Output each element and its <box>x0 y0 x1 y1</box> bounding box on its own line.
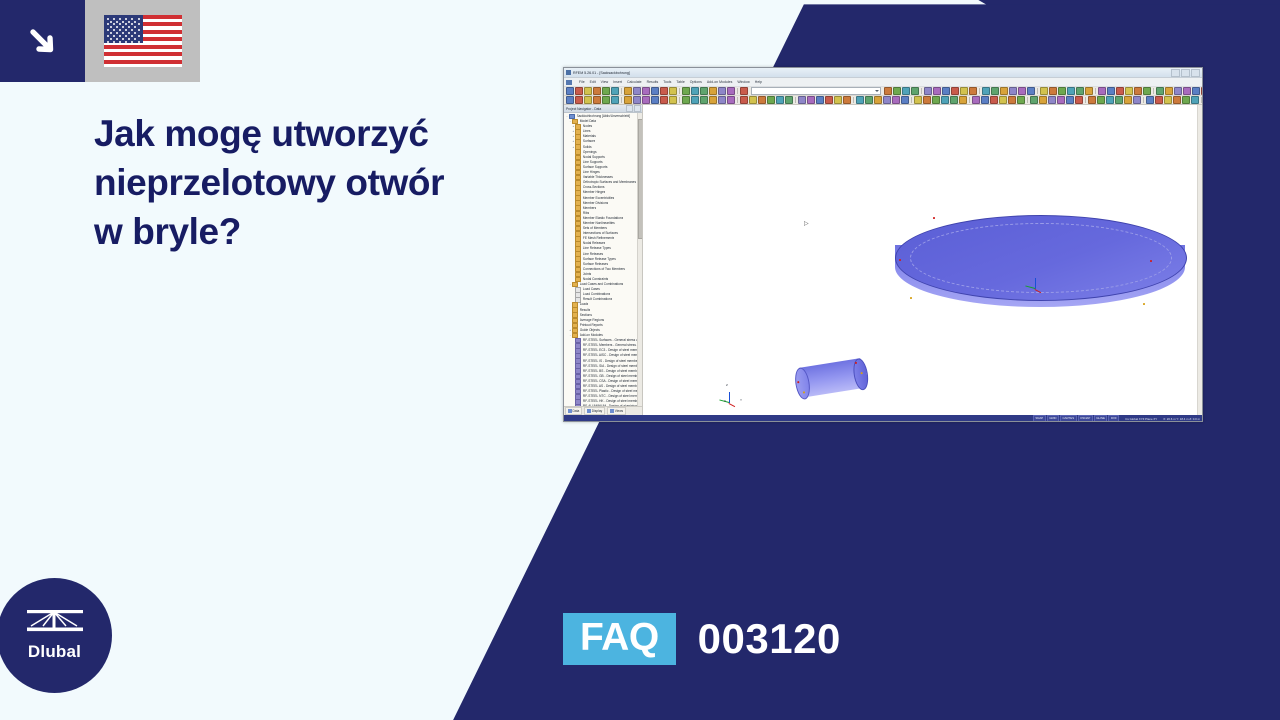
toolbar-icon-72[interactable] <box>1164 96 1172 104</box>
toolbar-icon-70[interactable] <box>1146 96 1154 104</box>
toolbar-icon-61[interactable] <box>1075 96 1083 104</box>
toolbar-icon-46[interactable] <box>950 96 958 104</box>
toolbar-separator <box>621 97 622 103</box>
axis-label-y: Y <box>740 398 742 402</box>
toolbar-icon-1[interactable] <box>575 87 583 95</box>
toolbar-icon-65[interactable] <box>1106 96 1114 104</box>
toolbar-separator <box>853 97 854 103</box>
toolbar-icon-51[interactable] <box>1116 87 1124 95</box>
toolbar-icon-54[interactable] <box>1143 87 1151 95</box>
status-info: Cs Global XYZ Plane XY <box>1125 417 1157 421</box>
toolbar-icon-35[interactable] <box>856 96 864 104</box>
toolbar-icon-33[interactable] <box>843 96 851 104</box>
header-badges <box>0 0 200 82</box>
menu-item-file[interactable]: File <box>579 80 585 84</box>
toolbar-icon-12[interactable] <box>669 96 677 104</box>
dlubal-wordmark: Dlubal <box>28 642 81 662</box>
toolbar-icon-26[interactable] <box>911 87 919 95</box>
axis-label-x: X <box>724 399 726 403</box>
minimize-button[interactable] <box>1171 69 1180 77</box>
toolbar-icon-59[interactable] <box>1057 96 1065 104</box>
toolbar-icon-2[interactable] <box>584 87 592 95</box>
flag-star <box>110 21 112 23</box>
model-origin-axes <box>1035 273 1049 289</box>
menu-item-table[interactable]: Table <box>676 80 684 84</box>
toolbar-separator <box>795 97 796 103</box>
toolbar-icon-12[interactable] <box>669 87 677 95</box>
toolbar-icon-61[interactable] <box>1201 87 1203 95</box>
toolbar-icon-0[interactable] <box>566 96 574 104</box>
toolbar-icon-49[interactable] <box>1098 87 1106 95</box>
toolbar-icon-75[interactable] <box>1191 96 1199 104</box>
toolbar-icon-47[interactable] <box>959 96 967 104</box>
solid-cylinder-object[interactable] <box>793 358 869 399</box>
page-title-line-2: nieprzelotowy otwór <box>94 159 534 208</box>
navigator-tab-display[interactable]: Display <box>584 407 605 415</box>
status-toggle-group[interactable]: SNAPGRIDCARTESOSNAPGLINEDXF <box>1033 415 1119 422</box>
toolbar-icon-4[interactable] <box>602 96 610 104</box>
toolbar-icon-36[interactable] <box>865 96 873 104</box>
toolbar-icon-18[interactable] <box>718 96 726 104</box>
toolbar-separator <box>1027 97 1028 103</box>
toolbar-icon-5[interactable] <box>611 96 619 104</box>
toolbar-separator <box>737 97 738 103</box>
status-coordinates: X: 20.6 m Y: 18.4 m Z: 0.0 m <box>1163 417 1200 421</box>
toolbar-icon-67[interactable] <box>1124 96 1132 104</box>
toolbar-icon-8[interactable] <box>633 87 641 95</box>
tree-item[interactable]: RF-ALUMINIUM - Design of aluminium b... <box>564 404 642 406</box>
axis-label-z: Z <box>726 383 728 387</box>
toolbar-icon-5[interactable] <box>611 87 619 95</box>
toolbar-icon-37[interactable] <box>1000 87 1008 95</box>
toolbar-icon-30[interactable] <box>816 96 824 104</box>
toolbar-icon-31[interactable] <box>951 87 959 95</box>
toolbar-icon-42[interactable] <box>914 96 922 104</box>
language-flag-us[interactable] <box>85 0 200 82</box>
toolbar-icon-52[interactable] <box>999 96 1007 104</box>
toolbar-icon-31[interactable] <box>825 96 833 104</box>
maximize-button[interactable] <box>1181 69 1190 77</box>
flag-star <box>113 35 115 37</box>
toolbar-icon-19[interactable] <box>727 87 735 95</box>
tree-item-label: RF-ALUMINIUM - Design of aluminium b... <box>583 404 642 406</box>
faq-badge: FAQ <box>563 613 676 665</box>
toolbar-separator <box>921 88 922 94</box>
flag-star <box>138 35 140 37</box>
toolbar-icon-15[interactable] <box>691 87 699 95</box>
mouse-cursor-icon: ▷ <box>804 220 809 227</box>
toolbar-icon-30[interactable] <box>942 87 950 95</box>
toolbar-icon-8[interactable] <box>633 96 641 104</box>
toolbar-icon-24[interactable] <box>767 96 775 104</box>
toolbar-icon-17[interactable] <box>709 96 717 104</box>
flag-star <box>107 41 109 43</box>
toolbar-icon-25[interactable] <box>902 87 910 95</box>
flag-star <box>116 32 118 34</box>
toolbar-separator <box>1153 88 1154 94</box>
close-button[interactable] <box>1191 69 1200 77</box>
toolbar-icon-51[interactable] <box>990 96 998 104</box>
toolbar-icon-58[interactable] <box>1174 87 1182 95</box>
page-title: Jak mogę utworzyć nieprzelotowy otwór w … <box>94 110 534 256</box>
toolbar-icon-60[interactable] <box>1066 96 1074 104</box>
navigator-tab-views[interactable]: Views <box>607 407 626 415</box>
status-toggle-dxf[interactable]: DXF <box>1108 415 1119 422</box>
toolbar-icon-26[interactable] <box>785 96 793 104</box>
toolbar-icon-35[interactable] <box>982 87 990 95</box>
toolbar-icon-16[interactable] <box>700 96 708 104</box>
navigator-controls[interactable] <box>626 105 641 112</box>
toolbar-separator <box>911 97 912 103</box>
toolbar-load-case-combo[interactable] <box>751 87 881 95</box>
flag-star <box>116 38 118 40</box>
toolbar-icon-57[interactable] <box>1039 96 1047 104</box>
toolbar-primary[interactable] <box>564 87 1202 96</box>
window-titlebar: RFEM 5.26.01 - [Sacksackbohrung] <box>564 68 1202 78</box>
toolbar-secondary[interactable] <box>564 96 1202 105</box>
flag-star <box>107 18 109 20</box>
toolbar-icon-0[interactable] <box>566 87 574 95</box>
toolbar-icon-60[interactable] <box>1192 87 1200 95</box>
app-icon <box>566 70 571 75</box>
toolbar-icon-19[interactable] <box>727 96 735 104</box>
slide-canvas: Jak mogę utworzyć nieprzelotowy otwór w … <box>0 0 1280 720</box>
toolbar-icon-63[interactable] <box>1088 96 1096 104</box>
flag-star <box>125 18 127 20</box>
flag-stripe <box>104 45 182 49</box>
toolbar-icon-40[interactable] <box>1027 87 1035 95</box>
toolbar-separator <box>979 88 980 94</box>
flag-star <box>122 21 124 23</box>
flag-star <box>113 18 115 20</box>
window-body: Project Navigator - Data -Sacklochbohrun… <box>564 105 1202 415</box>
toolbar-icon-56[interactable] <box>1156 87 1164 95</box>
flag-star <box>107 29 109 31</box>
viewport-scrollbar-vertical[interactable] <box>1197 105 1202 415</box>
toolbar-icon-42[interactable] <box>1040 87 1048 95</box>
toolbar-icon-39[interactable] <box>1018 87 1026 95</box>
navigator-pin-button[interactable] <box>626 105 633 112</box>
toolbar-icon-45[interactable] <box>1067 87 1075 95</box>
toolbar-icon-15[interactable] <box>691 96 699 104</box>
window-controls[interactable] <box>1171 69 1200 77</box>
menu-item-edit[interactable]: Edit <box>590 80 596 84</box>
navigator-scrollbar[interactable] <box>637 113 642 406</box>
toolbar-icon-57[interactable] <box>1165 87 1173 95</box>
toolbar-icon-37[interactable] <box>874 96 882 104</box>
navigator-tab-label: Views <box>615 409 623 413</box>
toolbar-icon-3[interactable] <box>593 87 601 95</box>
faq-footer: FAQ 003120 <box>563 613 841 665</box>
toolbar-separator <box>1143 97 1144 103</box>
navigator-scrollbar-thumb[interactable] <box>638 119 642 239</box>
toolbar-icon-32[interactable] <box>834 96 842 104</box>
toolbar-separator <box>1037 88 1038 94</box>
toolbar-icon-73[interactable] <box>1173 96 1181 104</box>
status-toggle-gline[interactable]: GLINE <box>1094 415 1108 422</box>
flag-star <box>138 29 140 31</box>
flag-star <box>128 21 130 23</box>
status-toggle-snap[interactable]: SNAP <box>1033 415 1046 422</box>
flag-star <box>119 41 121 43</box>
flag-star <box>107 35 109 37</box>
flag-star <box>110 38 112 40</box>
status-toggle-cartes[interactable]: CARTES <box>1060 415 1077 422</box>
flag-stripe <box>104 52 182 56</box>
toolbar-icon-56[interactable] <box>1030 96 1038 104</box>
toolbar-icon-33[interactable] <box>969 87 977 95</box>
us-flag-icon <box>104 15 182 67</box>
toolbar-icon-10[interactable] <box>651 96 659 104</box>
navigator-title: Project Navigator - Data <box>566 107 601 111</box>
dlubal-truss-icon <box>26 609 84 639</box>
toolbar-icon-64[interactable] <box>1097 96 1105 104</box>
faq-number: 003120 <box>698 615 841 663</box>
menu-item-calculate[interactable]: Calculate <box>627 80 642 84</box>
menu-item-window[interactable]: Window <box>737 80 749 84</box>
toolbar-separator <box>679 88 680 94</box>
toolbar-icon-36[interactable] <box>991 87 999 95</box>
menu-item-results[interactable]: Results <box>647 80 659 84</box>
toolbar-icon-46[interactable] <box>1076 87 1084 95</box>
toolbar-icon-47[interactable] <box>1085 87 1093 95</box>
navigator-tab-icon <box>587 409 591 413</box>
toolbar-icon-53[interactable] <box>1008 96 1016 104</box>
toolbar-icon-23[interactable] <box>884 87 892 95</box>
toolbar-icon-10[interactable] <box>651 87 659 95</box>
toolbar-icon-32[interactable] <box>960 87 968 95</box>
navigator-tab-data[interactable]: Data <box>565 407 582 415</box>
toolbar-icon-9[interactable] <box>642 87 650 95</box>
menu-item-add-on-modules[interactable]: Add-on Modules <box>707 80 733 84</box>
toolbar-icon-23[interactable] <box>758 96 766 104</box>
menu-item-help[interactable]: Help <box>755 80 762 84</box>
flag-star <box>138 41 140 43</box>
toolbar-icon-17[interactable] <box>709 87 717 95</box>
status-toggle-grid[interactable]: GRID <box>1047 415 1059 422</box>
status-bar[interactable]: SNAPGRIDCARTESOSNAPGLINEDXF Cs Global XY… <box>564 415 1202 422</box>
toolbar-icon-11[interactable] <box>660 96 668 104</box>
toolbar-icon-43[interactable] <box>1049 87 1057 95</box>
toolbar-icon-38[interactable] <box>1009 87 1017 95</box>
toolbar-icon-29[interactable] <box>933 87 941 95</box>
toolbar-icon-3[interactable] <box>593 96 601 104</box>
toolbar-icon-29[interactable] <box>807 96 815 104</box>
toolbar-separator <box>1085 97 1086 103</box>
toolbar-separator <box>1201 97 1202 103</box>
toolbar-icon-58[interactable] <box>1048 96 1056 104</box>
toolbar-icon-1[interactable] <box>575 96 583 104</box>
toolbar-icon-40[interactable] <box>901 96 909 104</box>
toolbar-icon-24[interactable] <box>893 87 901 95</box>
flag-star <box>116 21 118 23</box>
system-menu-icon[interactable] <box>566 80 572 85</box>
toolbar-separator <box>737 88 738 94</box>
toolbar-icon-45[interactable] <box>941 96 949 104</box>
navigator-tree[interactable]: -Sacklochbohrung [Aktiv/Unverschiebl]-Mo… <box>564 113 642 406</box>
navigator-tab-icon <box>568 409 572 413</box>
toolbar-icon-68[interactable] <box>1133 96 1141 104</box>
menu-item-tools[interactable]: Tools <box>663 80 671 84</box>
arrow-down-right-icon <box>0 0 85 82</box>
toolbar-icon-18[interactable] <box>718 87 726 95</box>
toolbar-icon-39[interactable] <box>892 96 900 104</box>
toolbar-icon-7[interactable] <box>624 96 632 104</box>
toolbar-icon-54[interactable] <box>1017 96 1025 104</box>
flag-star <box>125 41 127 43</box>
menu-item-options[interactable]: Options <box>690 80 702 84</box>
status-toggle-osnap[interactable]: OSNAP <box>1078 415 1093 422</box>
project-navigator: Project Navigator - Data -Sacklochbohrun… <box>564 105 643 415</box>
toolbar-icon-14[interactable] <box>682 87 690 95</box>
flag-star <box>119 35 121 37</box>
toolbar-icon-44[interactable] <box>932 96 940 104</box>
toolbar-icon-59[interactable] <box>1183 87 1191 95</box>
toolbar-icon-7[interactable] <box>624 87 632 95</box>
toolbar-icon-44[interactable] <box>1058 87 1066 95</box>
toolbar-separator <box>679 97 680 103</box>
toolbar-icon-28[interactable] <box>924 87 932 95</box>
toolbar-separator <box>621 88 622 94</box>
toolbar-icon-21[interactable] <box>740 87 748 95</box>
toolbar-separator <box>969 97 970 103</box>
flag-star <box>138 18 140 20</box>
toolbar-icon-28[interactable] <box>798 96 806 104</box>
window-title: RFEM 5.26.01 - [Sacksackbohrung] <box>573 71 630 75</box>
global-axes-indicator: Z Y X <box>729 387 745 403</box>
toolbar-icon-4[interactable] <box>602 87 610 95</box>
toolbar-icon-74[interactable] <box>1182 96 1190 104</box>
navigator-tabs[interactable]: DataDisplayViews <box>564 406 642 415</box>
toolbar-icon-43[interactable] <box>923 96 931 104</box>
dlubal-logo: Dlubal <box>0 578 112 693</box>
navigator-tab-label: Data <box>573 409 580 413</box>
toolbar-icon-71[interactable] <box>1155 96 1163 104</box>
toolbar-icon-50[interactable] <box>981 96 989 104</box>
toolbar-icon-53[interactable] <box>1134 87 1142 95</box>
flag-star <box>113 41 115 43</box>
navigator-tab-icon <box>610 409 614 413</box>
flag-star <box>122 38 124 40</box>
flag-star <box>113 29 115 31</box>
navigator-tab-label: Display <box>592 409 602 413</box>
toolbar-icon-22[interactable] <box>749 96 757 104</box>
toolbar-icon-66[interactable] <box>1115 96 1123 104</box>
menu-item-view[interactable]: View <box>601 80 609 84</box>
toolbar-icon-49[interactable] <box>972 96 980 104</box>
toolbar-icon-38[interactable] <box>883 96 891 104</box>
navigator-close-button[interactable] <box>634 105 641 112</box>
toolbar-icon-50[interactable] <box>1107 87 1115 95</box>
flag-stripe <box>104 60 182 64</box>
toolbar-icon-2[interactable] <box>584 96 592 104</box>
rfem-application-window: RFEM 5.26.01 - [Sacksackbohrung] FileEdi… <box>563 67 1203 422</box>
page-title-line-3: w bryle? <box>94 208 534 257</box>
toolbar-icon-11[interactable] <box>660 87 668 95</box>
toolbar-separator <box>1095 88 1096 94</box>
toolbar-icon-25[interactable] <box>776 96 784 104</box>
tree-item-icon <box>575 404 581 406</box>
flag-star <box>119 18 121 20</box>
toolbar-icon-16[interactable] <box>700 87 708 95</box>
navigator-titlebar: Project Navigator - Data <box>564 105 642 113</box>
toolbar-icon-14[interactable] <box>682 96 690 104</box>
toolbar-icon-52[interactable] <box>1125 87 1133 95</box>
toolbar-icon-9[interactable] <box>642 96 650 104</box>
flag-star <box>110 32 112 34</box>
menu-bar[interactable]: FileEditViewInsertCalculateResultsToolsT… <box>564 78 1202 87</box>
model-viewport[interactable]: ▷ <box>643 105 1202 415</box>
page-title-line-1: Jak mogę utworzyć <box>94 110 534 159</box>
menu-item-insert[interactable]: Insert <box>613 80 622 84</box>
toolbar-icon-21[interactable] <box>740 96 748 104</box>
